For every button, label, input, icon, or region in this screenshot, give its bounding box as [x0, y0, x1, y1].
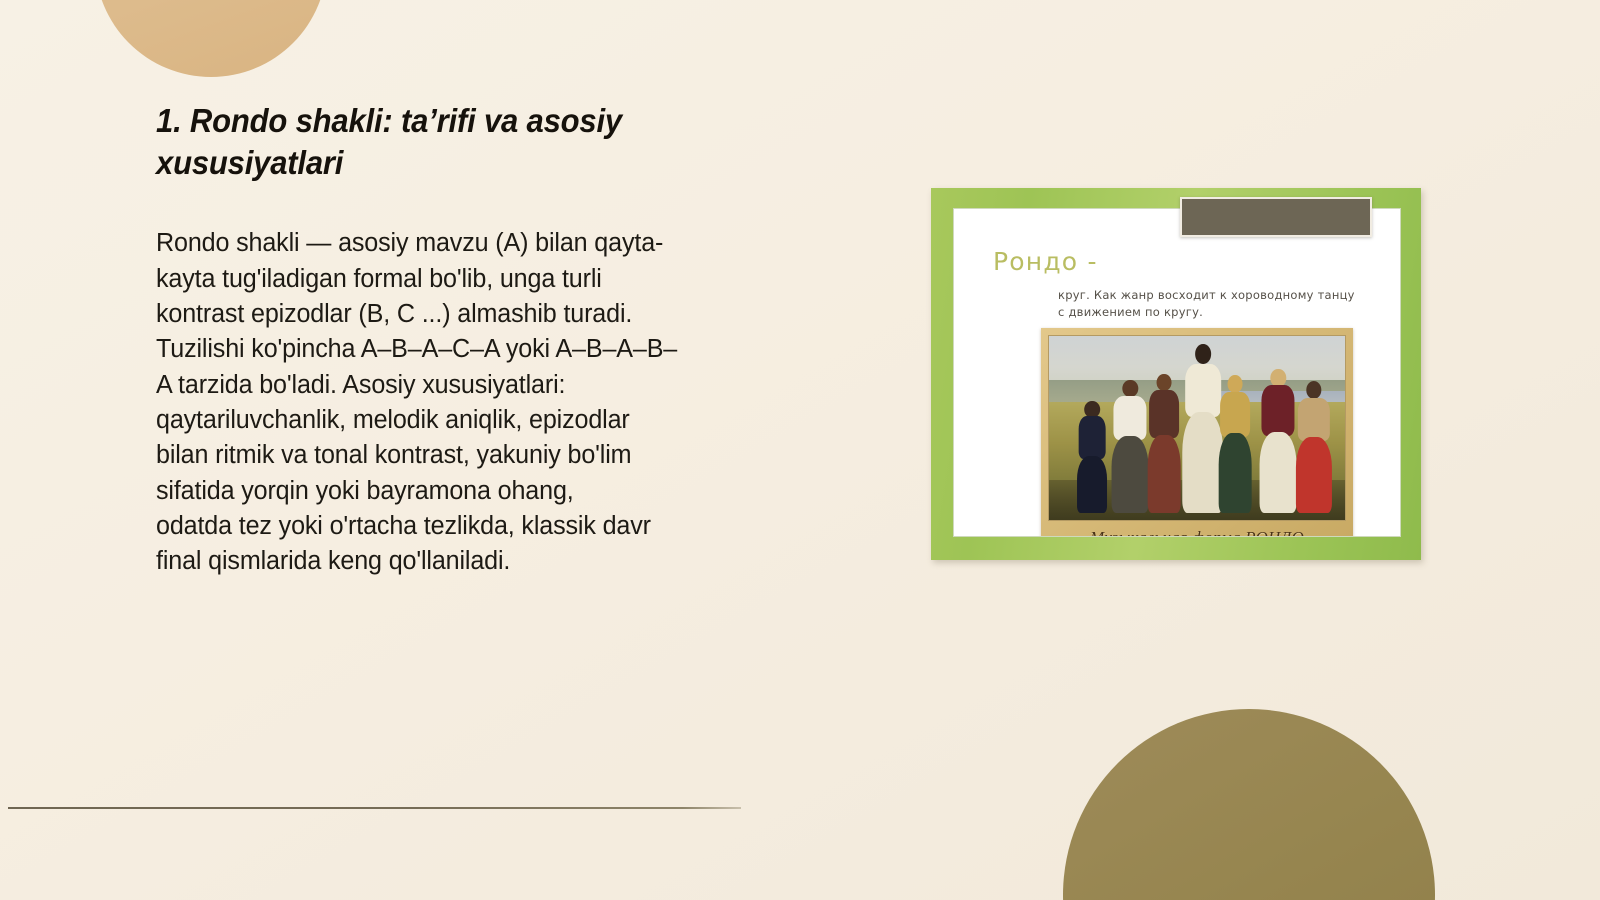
dancer-skirt [1112, 436, 1149, 513]
russian-heading: Рондо - [993, 247, 1098, 276]
painting-artwork [1048, 335, 1346, 521]
dancer-figure [1111, 380, 1149, 512]
dancer-torso [1150, 390, 1180, 438]
dancer-skirt [1148, 435, 1181, 513]
painting-image: Музыкальная форма РОНДО [1041, 328, 1353, 537]
dancer-skirt [1077, 456, 1107, 513]
dancer-torso [1298, 398, 1330, 441]
dancer-head [1157, 374, 1172, 392]
painting-caption: Музыкальная форма РОНДО [1048, 521, 1346, 537]
slide-body-paragraph: Rondo shakli — asosiy mavzu (A) bilan qa… [156, 226, 818, 579]
dancer-torso [1185, 364, 1221, 417]
bottom-divider-rule [8, 807, 741, 809]
dancer-head [1123, 380, 1138, 397]
dancer-figure [1218, 380, 1254, 512]
dancer-head [1228, 375, 1243, 394]
dancer-head [1271, 369, 1286, 387]
decorative-circle-top-left [95, 0, 327, 77]
slide-title: 1. Rondo shakli: ta’rifi va asosiy xusus… [156, 100, 788, 184]
dancer-torso [1262, 385, 1295, 435]
dancer-head [1195, 344, 1211, 363]
picture-inner-slide: Рондо - круг. Как жанр восходит к хорово… [953, 208, 1401, 537]
dancer-figure [1259, 373, 1297, 513]
russian-subtext: круг. Как жанр восходит к хороводному та… [1058, 287, 1398, 320]
decorative-circle-bottom-right [1063, 709, 1435, 900]
dancer-torso [1079, 416, 1106, 459]
dancer-skirt [1296, 437, 1332, 513]
dancer-torso [1221, 392, 1251, 437]
dancer-figure [1295, 384, 1333, 513]
dancer-figure [1076, 399, 1109, 513]
dancer-skirt [1260, 432, 1297, 513]
dancer-skirt [1219, 433, 1252, 512]
text-column: 1. Rondo shakli: ta’rifi va asosiy xusus… [156, 100, 828, 580]
slide-canvas: 1. Rondo shakli: ta’rifi va asosiy xusus… [0, 0, 1600, 900]
dancer-torso [1114, 396, 1147, 440]
illustration-panel: Рондо - круг. Как жанр восходит к хорово… [931, 188, 1421, 560]
grey-bar-overlay [1180, 197, 1372, 237]
dancer-figure [1147, 376, 1183, 512]
dancer-head [1306, 381, 1321, 399]
